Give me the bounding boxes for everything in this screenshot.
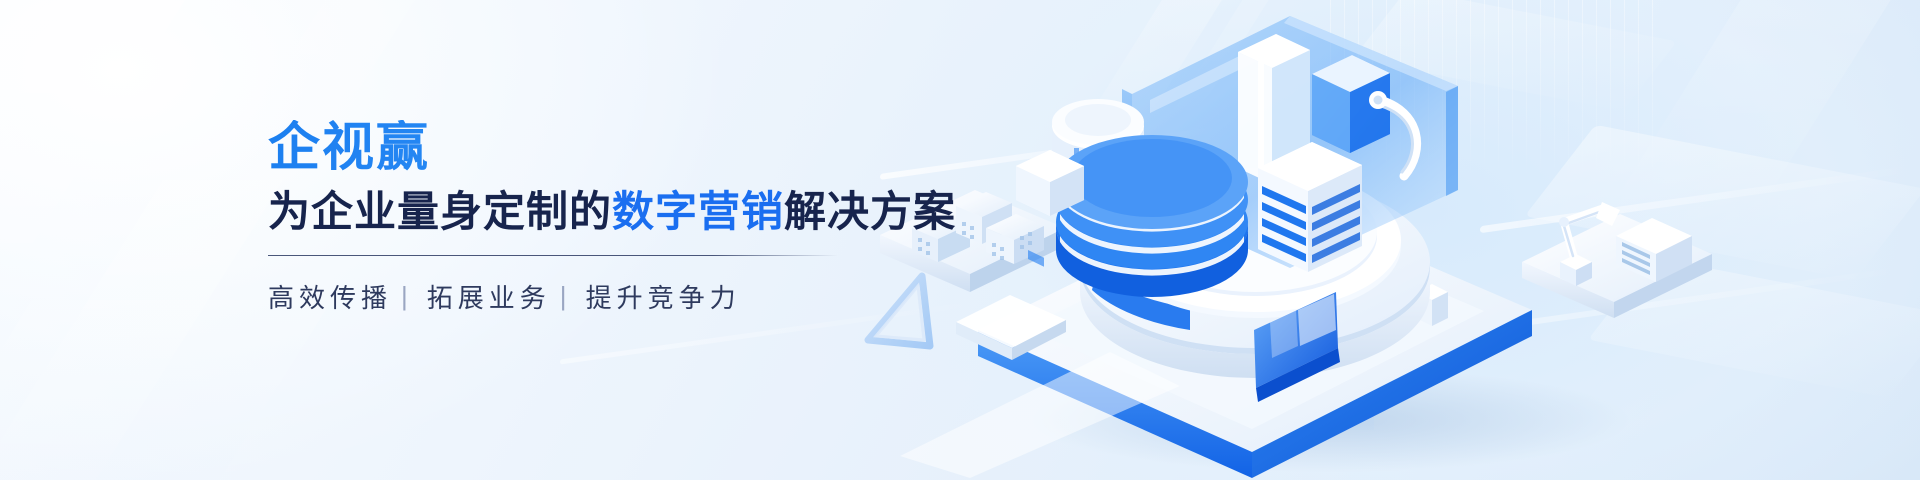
headline-highlight: 数字营销 xyxy=(612,188,784,235)
diagonal-band xyxy=(0,0,210,280)
hero-illustration xyxy=(860,0,1920,480)
tagline-separator: | xyxy=(560,281,572,312)
hero-banner: 企视赢 为企业量身定制的数字营销解决方案 高效传播 | 拓展业务 | 提升竞争力 xyxy=(0,0,1920,480)
tagline-item-1: 高效传播 xyxy=(268,278,392,315)
divider-rule xyxy=(268,255,838,256)
data-disc-stack xyxy=(1056,135,1248,297)
tagline-item-3: 提升竞争力 xyxy=(586,278,741,315)
diagonal-band xyxy=(0,180,283,480)
striped-tower-right xyxy=(1258,142,1362,272)
hero-text-block: 企视赢 为企业量身定制的数字营销解决方案 高效传播 | 拓展业务 | 提升竞争力 xyxy=(268,120,908,315)
pipe-joint xyxy=(1374,96,1383,105)
headline-after: 解决方案 xyxy=(784,188,956,235)
headline-before: 为企业量身定制的 xyxy=(268,188,612,235)
tagline-item-2: 拓展业务 xyxy=(427,278,551,315)
brand-title: 企视赢 xyxy=(268,120,908,176)
tagline: 高效传播 | 拓展业务 | 提升竞争力 xyxy=(268,278,908,315)
diagonal-band xyxy=(0,300,332,480)
headline: 为企业量身定制的数字营销解决方案 xyxy=(268,188,908,235)
tagline-separator: | xyxy=(401,281,413,312)
robot-arm-pad xyxy=(1522,202,1712,318)
